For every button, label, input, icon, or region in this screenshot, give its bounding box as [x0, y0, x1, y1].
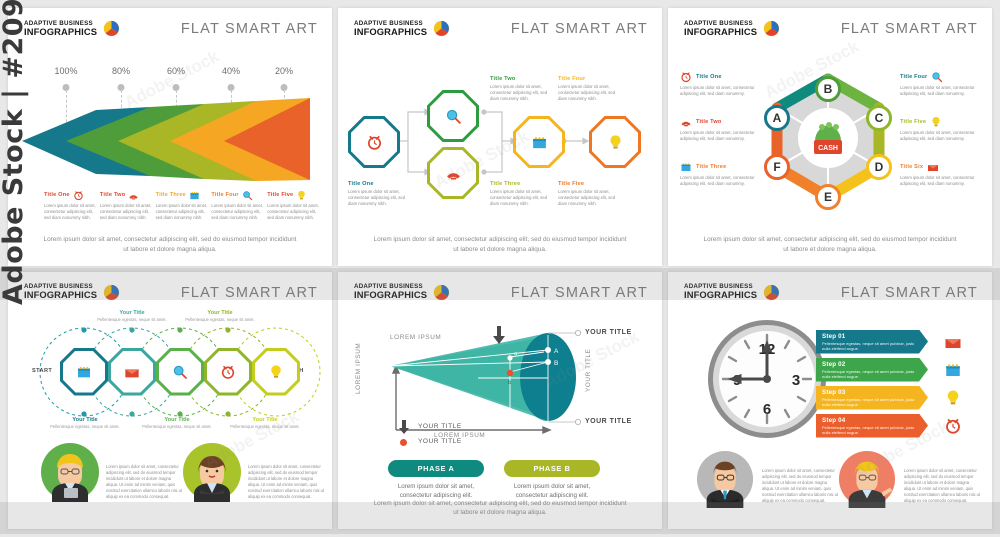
label-title: Title Four	[900, 74, 927, 80]
slides-grid: ADAPTIVE BUSINESS INFOGRAPHICS FLAT SMAR…	[0, 0, 1000, 537]
legend-item[interactable]: Title Three Lorem ipsum dolor sit amet, …	[156, 189, 209, 221]
hex-label-six[interactable]: Title Six Lorem ipsum dolor sit amet, co…	[900, 160, 980, 187]
bio-text-1: Lorem ipsum dolor sit amet, consectetur …	[762, 468, 838, 504]
label-title: Title Three	[696, 164, 726, 170]
envelope-icon	[124, 364, 140, 380]
timeline-node-4[interactable]	[204, 348, 252, 396]
avatar-businessman[interactable]	[696, 450, 754, 508]
telephone-icon	[680, 116, 692, 128]
slide-title: FLAT SMART ART	[181, 21, 318, 37]
slide-header: ADAPTIVE BUSINESS INFOGRAPHICS FLAT SMAR…	[24, 284, 318, 310]
label-body: Lorem ipsum dolor sit amet, consectetur …	[558, 84, 616, 102]
funnel-percent-labels: 100% 80% 60% 40% 20%	[8, 66, 332, 80]
axis-label-right: YOUR TITLE	[585, 348, 592, 392]
lightbulb-icon	[944, 389, 962, 407]
avatar-businesswoman[interactable]	[838, 450, 896, 508]
timeline-bottom-label-1[interactable]: Your Title Pellentesque egestas, neque s…	[46, 417, 124, 430]
axis-label-left: LOREM IPSUM	[355, 342, 362, 393]
slide-header: ADAPTIVE BUSINESS INFOGRAPHICS FLAT SMAR…	[354, 284, 648, 310]
legend-item[interactable]: Title One Lorem ipsum dolor sit amet, co…	[44, 189, 97, 221]
slide-funnel[interactable]: ADAPTIVE BUSINESS INFOGRAPHICS FLAT SMAR…	[8, 8, 332, 266]
percent-label: 80%	[112, 66, 130, 76]
legend-title: Title Four	[211, 192, 238, 198]
brand-line2: INFOGRAPHICS	[684, 290, 757, 299]
node-letter: C	[875, 111, 884, 125]
telephone-icon	[128, 190, 139, 201]
label-body: Pellentesque egestas, neque sit amet.	[93, 317, 171, 323]
hex-node-a[interactable]: A	[764, 105, 790, 131]
calendar-icon	[189, 190, 200, 201]
infographic-sheet: Adobe Stock | #209180416 ADAPTIVE BUSINE…	[0, 0, 1000, 537]
funnel-chart[interactable]	[18, 94, 318, 184]
node-letter: D	[875, 160, 884, 174]
label-title: Title One	[696, 74, 722, 80]
lightbulb-icon	[296, 190, 307, 201]
pie-chart-icon	[103, 284, 120, 301]
flow-label-five[interactable]: Title Five Lorem ipsum dolor sit amet, c…	[558, 181, 616, 207]
brand-line2: INFOGRAPHICS	[24, 27, 97, 36]
step-row-2[interactable]: Step 02 Pellentesque egestas, neque sit …	[816, 358, 986, 382]
slide-title: FLAT SMART ART	[841, 21, 978, 37]
alarm-clock-icon	[366, 134, 383, 151]
start-label: START	[32, 368, 52, 374]
slide-cone-chart[interactable]: ADAPTIVE BUSINESS INFOGRAPHICS FLAT SMAR…	[338, 272, 662, 530]
label-body: Lorem ipsum dolor sit amet, consectetur …	[900, 130, 980, 142]
flow-label-three[interactable]: Title Three Lorem ipsum dolor sit amet, …	[490, 181, 548, 207]
calendar-icon	[76, 364, 92, 380]
phase-b-caption: Lorem ipsum dolor sit amet, consectetur …	[498, 482, 606, 501]
slide-title: FLAT SMART ART	[511, 285, 648, 301]
label-title: Your Title	[226, 417, 304, 423]
node-letter: B	[824, 82, 833, 96]
percent-label: 60%	[167, 66, 185, 76]
envelope-icon	[944, 333, 962, 351]
legend-body: Lorem ipsum dolor sit amet, consectetur …	[44, 203, 97, 221]
step-arrow-3[interactable]: Step 03 Pellentesque egestas, neque sit …	[816, 386, 928, 410]
slide-timeline[interactable]: ADAPTIVE BUSINESS INFOGRAPHICS FLAT SMAR…	[8, 272, 332, 530]
dot-icon	[400, 439, 407, 446]
phase-a-caption: Lorem ipsum dolor sit amet, consectetur …	[382, 482, 490, 501]
timeline-node-3[interactable]	[156, 348, 204, 396]
step-arrow-4[interactable]: Step 04 Pellentesque egestas, neque sit …	[816, 414, 928, 438]
avatar-brunette-woman[interactable]	[182, 442, 242, 502]
phase-b-button[interactable]: PHASE B	[504, 460, 600, 477]
legend-body: Lorem ipsum dolor sit amet, consectetur …	[100, 203, 153, 221]
pie-chart-icon	[103, 20, 120, 37]
brand-line2: INFOGRAPHICS	[24, 290, 97, 299]
slide-hexagon-cycle[interactable]: ADAPTIVE BUSINESS INFOGRAPHICS FLAT SMAR…	[668, 8, 992, 266]
alarm-clock-icon	[220, 364, 236, 380]
hex-node-f[interactable]: F	[764, 154, 790, 180]
brand-line2: INFOGRAPHICS	[354, 290, 427, 299]
slide-header: ADAPTIVE BUSINESS INFOGRAPHICS FLAT SMAR…	[684, 284, 978, 310]
legend-title: Title Five	[267, 192, 293, 198]
alarm-clock-icon	[73, 190, 84, 201]
flow-label-four[interactable]: Title Four Lorem ipsum dolor sit amet, c…	[558, 76, 616, 102]
hex-label-five[interactable]: Title Five Lorem ipsum dolor sit amet, c…	[900, 115, 980, 142]
step-label: Step 01	[822, 333, 922, 340]
flow-label-one[interactable]: Title One Lorem ipsum dolor sit amet, co…	[348, 181, 406, 207]
telephone-icon	[445, 165, 462, 182]
timeline-node-5[interactable]	[252, 348, 300, 396]
phase-a-button[interactable]: PHASE A	[388, 460, 484, 477]
magnifier-icon	[172, 364, 188, 380]
hex-node-d[interactable]: D	[866, 154, 892, 180]
callout-top[interactable]: YOUR TITLE	[585, 329, 632, 336]
flow-label-two[interactable]: Title Two Lorem ipsum dolor sit amet, co…	[490, 76, 548, 102]
label-body: Lorem ipsum dolor sit amet, consectetur …	[490, 84, 548, 102]
label-title: Title Three	[490, 181, 548, 187]
alarm-clock-icon	[944, 417, 962, 435]
legend-title: Title One	[44, 192, 70, 198]
step-row-1[interactable]: Step 01 Pellentesque egestas, neque sit …	[816, 330, 986, 354]
legend-label-1: YOUR TITLE	[418, 423, 462, 430]
hex-label-one[interactable]: Title One Lorem ipsum dolor sit amet, co…	[680, 70, 760, 97]
step-label: Step 04	[822, 417, 922, 424]
slide-footer: Lorem ipsum dolor sit amet, consectetur …	[370, 235, 629, 254]
magnifier-icon	[445, 108, 462, 125]
label-title: Title Four	[558, 76, 616, 82]
lightbulb-icon	[930, 116, 942, 128]
label-body: Lorem ipsum dolor sit amet, consectetur …	[558, 189, 616, 207]
pie-chart-icon	[433, 284, 450, 301]
label-title: Your Title	[93, 310, 171, 316]
hex-node-e[interactable]: E	[815, 184, 841, 210]
step-label: Step 02	[822, 361, 922, 368]
label-body: Lorem ipsum dolor sit amet, consectetur …	[348, 189, 406, 207]
svg-text:CASH: CASH	[818, 145, 838, 152]
legend-item[interactable]: Title Five Lorem ipsum dolor sit amet, c…	[267, 189, 320, 221]
label-body: Lorem ipsum dolor sit amet, consectetur …	[900, 175, 980, 187]
svg-text:3: 3	[792, 372, 800, 389]
label-body: Lorem ipsum dolor sit amet, consectetur …	[900, 85, 980, 97]
label-body: Pellentesque egestas, neque sit amet.	[138, 424, 216, 430]
magnifier-icon	[242, 190, 253, 201]
timeline-top-label-2[interactable]: Your Title Pellentesque egestas, neque s…	[181, 310, 259, 323]
slide-title: FLAT SMART ART	[841, 285, 978, 301]
magnifier-icon	[931, 71, 943, 83]
slide-header: ADAPTIVE BUSINESS INFOGRAPHICS FLAT SMAR…	[684, 20, 978, 46]
label-title: Title Five	[558, 181, 616, 187]
svg-text:b: b	[508, 380, 511, 386]
label-body: Pellentesque egestas, neque sit amet.	[181, 317, 259, 323]
label-title: Title One	[348, 181, 406, 187]
callout-bottom[interactable]: YOUR TITLE	[585, 418, 632, 425]
envelope-icon	[927, 161, 939, 173]
slide-footer: Lorem ipsum dolor sit amet, consectetur …	[40, 235, 299, 254]
legend-label-2: YOUR TITLE	[418, 438, 462, 445]
calendar-icon	[944, 361, 962, 379]
legend-body: Lorem ipsum dolor sit amet, consectetur …	[211, 203, 264, 221]
hex-label-four[interactable]: Title Four Lorem ipsum dolor sit amet, c…	[900, 70, 980, 97]
avatar-blonde-woman[interactable]	[40, 442, 100, 502]
arrow-down-icon	[398, 420, 410, 434]
axis-label-top: LOREM IPSUM	[390, 334, 441, 341]
svg-text:6: 6	[763, 401, 771, 418]
pie-chart-icon	[433, 20, 450, 37]
step-row-4[interactable]: Step 04 Pellentesque egestas, neque sit …	[816, 414, 986, 438]
funnel-legend: Title One Lorem ipsum dolor sit amet, co…	[44, 189, 320, 221]
slide-title: FLAT SMART ART	[181, 285, 318, 301]
timeline-bottom-label-2[interactable]: Your Title Pellentesque egestas, neque s…	[138, 417, 216, 430]
bio-text-2: Lorem ipsum dolor sit amet, consectetur …	[904, 468, 980, 504]
calendar-icon	[531, 134, 548, 151]
node-letter: A	[773, 111, 782, 125]
node-letter: F	[773, 160, 780, 174]
legend-title: Title Two	[100, 192, 126, 198]
hex-node-c[interactable]: C	[866, 105, 892, 131]
label-body: Pellentesque egestas, neque sit amet.	[226, 424, 304, 430]
percent-label: 100%	[54, 66, 77, 76]
label-body: Lorem ipsum dolor sit amet, consectetur …	[490, 189, 548, 207]
step-body: Pellentesque egestas, neque sit amet pul…	[822, 369, 922, 380]
legend-title: Title Three	[156, 192, 186, 198]
slide-footer: Lorem ipsum dolor sit amet, consectetur …	[700, 235, 959, 254]
legend-body: Lorem ipsum dolor sit amet, consectetur …	[267, 203, 320, 221]
label-title: Title Two	[696, 119, 722, 125]
step-body: Pellentesque egestas, neque sit amet pul…	[822, 341, 922, 352]
percent-label: 20%	[275, 66, 293, 76]
label-title: Title Five	[900, 119, 926, 125]
svg-text:B: B	[554, 360, 558, 367]
legend-item[interactable]: Title Two Lorem ipsum dolor sit amet, co…	[100, 189, 153, 221]
step-body: Pellentesque egestas, neque sit amet pul…	[822, 397, 922, 408]
timeline-top-label-1[interactable]: Your Title Pellentesque egestas, neque s…	[93, 310, 171, 323]
hex-node-b[interactable]: B	[815, 76, 841, 102]
hex-label-three[interactable]: Title Three Lorem ipsum dolor sit amet, …	[680, 160, 760, 187]
avatar-bio-2: Lorem ipsum dolor sit amet, consectetur …	[248, 464, 326, 500]
timeline-node-2[interactable]	[108, 348, 156, 396]
legend-item[interactable]: Title Four Lorem ipsum dolor sit amet, c…	[211, 189, 264, 221]
alarm-clock-icon	[680, 71, 692, 83]
label-title: Title Six	[900, 164, 923, 170]
slide-clock-steps[interactable]: ADAPTIVE BUSINESS INFOGRAPHICS FLAT SMAR…	[668, 272, 992, 530]
timeline-bottom-label-3[interactable]: Your Title Pellentesque egestas, neque s…	[226, 417, 304, 430]
step-row-3[interactable]: Step 03 Pellentesque egestas, neque sit …	[816, 386, 986, 410]
clock-graphic[interactable]: 12 3 6 9	[706, 318, 828, 440]
legend-body: Lorem ipsum dolor sit amet, consectetur …	[156, 203, 209, 221]
svg-text:A: A	[554, 348, 559, 355]
label-title: Your Title	[46, 417, 124, 423]
slide-title: FLAT SMART ART	[511, 21, 648, 37]
label-title: Your Title	[138, 417, 216, 423]
step-arrow-2[interactable]: Step 02 Pellentesque egestas, neque sit …	[816, 358, 928, 382]
avatar-bio-1: Lorem ipsum dolor sit amet, consectetur …	[106, 464, 184, 500]
node-letter: E	[824, 190, 832, 204]
label-title: Title Two	[490, 76, 548, 82]
brand-line2: INFOGRAPHICS	[684, 27, 757, 36]
lightbulb-icon	[607, 134, 624, 151]
label-body: Lorem ipsum dolor sit amet, consectetur …	[680, 130, 760, 142]
calendar-icon	[680, 161, 692, 173]
slide-octagon-flow[interactable]: ADAPTIVE BUSINESS INFOGRAPHICS FLAT SMAR…	[338, 8, 662, 266]
timeline-node-1[interactable]	[60, 348, 108, 396]
step-body: Pellentesque egestas, neque sit amet pul…	[822, 425, 922, 436]
label-body: Pellentesque egestas, neque sit amet.	[46, 424, 124, 430]
slide-header: ADAPTIVE BUSINESS INFOGRAPHICS FLAT SMAR…	[354, 20, 648, 46]
hex-label-two[interactable]: Title Two Lorem ipsum dolor sit amet, co…	[680, 115, 760, 142]
label-body: Lorem ipsum dolor sit amet, consectetur …	[680, 85, 760, 97]
percent-label: 40%	[222, 66, 240, 76]
slide-footer: Lorem ipsum dolor sit amet, consectetur …	[370, 499, 629, 518]
step-arrow-1[interactable]: Step 01 Pellentesque egestas, neque sit …	[816, 330, 928, 354]
pie-chart-icon	[763, 20, 780, 37]
label-title: Your Title	[181, 310, 259, 316]
label-body: Lorem ipsum dolor sit amet, consectetur …	[680, 175, 760, 187]
lightbulb-icon	[268, 364, 284, 380]
slide-header: ADAPTIVE BUSINESS INFOGRAPHICS FLAT SMAR…	[24, 20, 318, 46]
pie-chart-icon	[763, 284, 780, 301]
step-label: Step 03	[822, 389, 922, 396]
brand-line2: INFOGRAPHICS	[354, 27, 427, 36]
